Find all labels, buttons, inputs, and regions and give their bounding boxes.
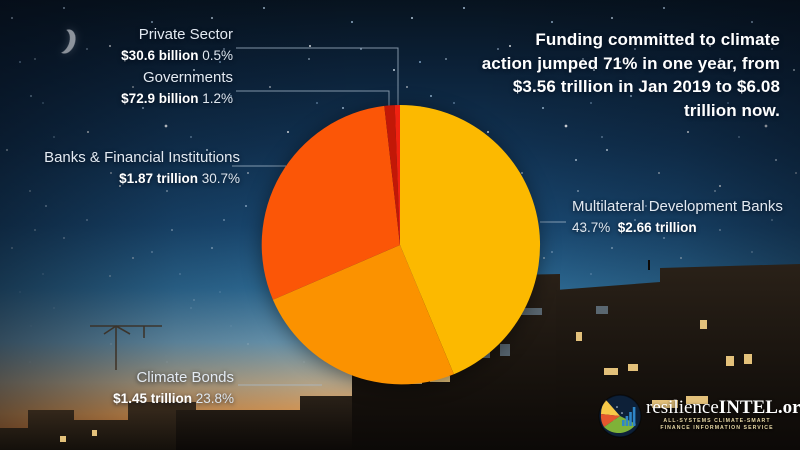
callout-banks-percent: 30.7% [202,171,240,186]
logo-tagline: All-Systems Climate-Smart Finance Inform… [647,418,787,432]
callout-private-sector-value: $30.6 billion [121,48,198,63]
construction-crane [86,312,166,372]
callout-climate-bonds: Climate Bonds $1.45 trillion 23.8% [113,368,234,408]
callout-governments-name: Governments [121,68,233,87]
callout-climate-bonds-value: $1.45 trillion [113,391,192,406]
globe-bars-logo-icon [598,394,642,438]
callout-climate-bonds-percent: 23.8% [196,391,234,406]
logo-wordmark-light: resilience [646,397,719,418]
callout-governments-value: $72.9 billion [121,91,198,106]
resilience-intel-logo[interactable]: resilienceINTEL.org All-Systems Climate-… [598,392,788,440]
callout-climate-bonds-name: Climate Bonds [113,368,234,387]
callout-mdb-percent: 43.7% [572,220,610,235]
callout-mdb: Multilateral Development Banks 43.7% $2.… [572,197,783,237]
callout-banks-value: $1.87 trillion [119,171,198,186]
callout-banks: Banks & Financial Institutions $1.87 tri… [44,148,240,188]
callout-governments: Governments $72.9 billion 1.2% [121,68,233,108]
callout-private-sector-percent: 0.5% [202,48,233,63]
callout-private-sector: Private Sector $30.6 billion 0.5% [121,25,233,65]
headline: Funding committed to climate action jump… [480,28,780,122]
pie-chart [258,103,542,387]
callout-mdb-name: Multilateral Development Banks [572,197,783,216]
infographic-canvas: Funding committed to climate action jump… [0,0,800,450]
callout-mdb-value: $2.66 trillion [618,220,697,235]
callout-private-sector-name: Private Sector [121,25,233,44]
callout-banks-name: Banks & Financial Institutions [44,148,240,167]
callout-governments-percent: 1.2% [202,91,233,106]
logo-wordmark-bold: INTEL.org [719,397,800,418]
logo-wordmark: resilienceINTEL.org [646,397,800,418]
